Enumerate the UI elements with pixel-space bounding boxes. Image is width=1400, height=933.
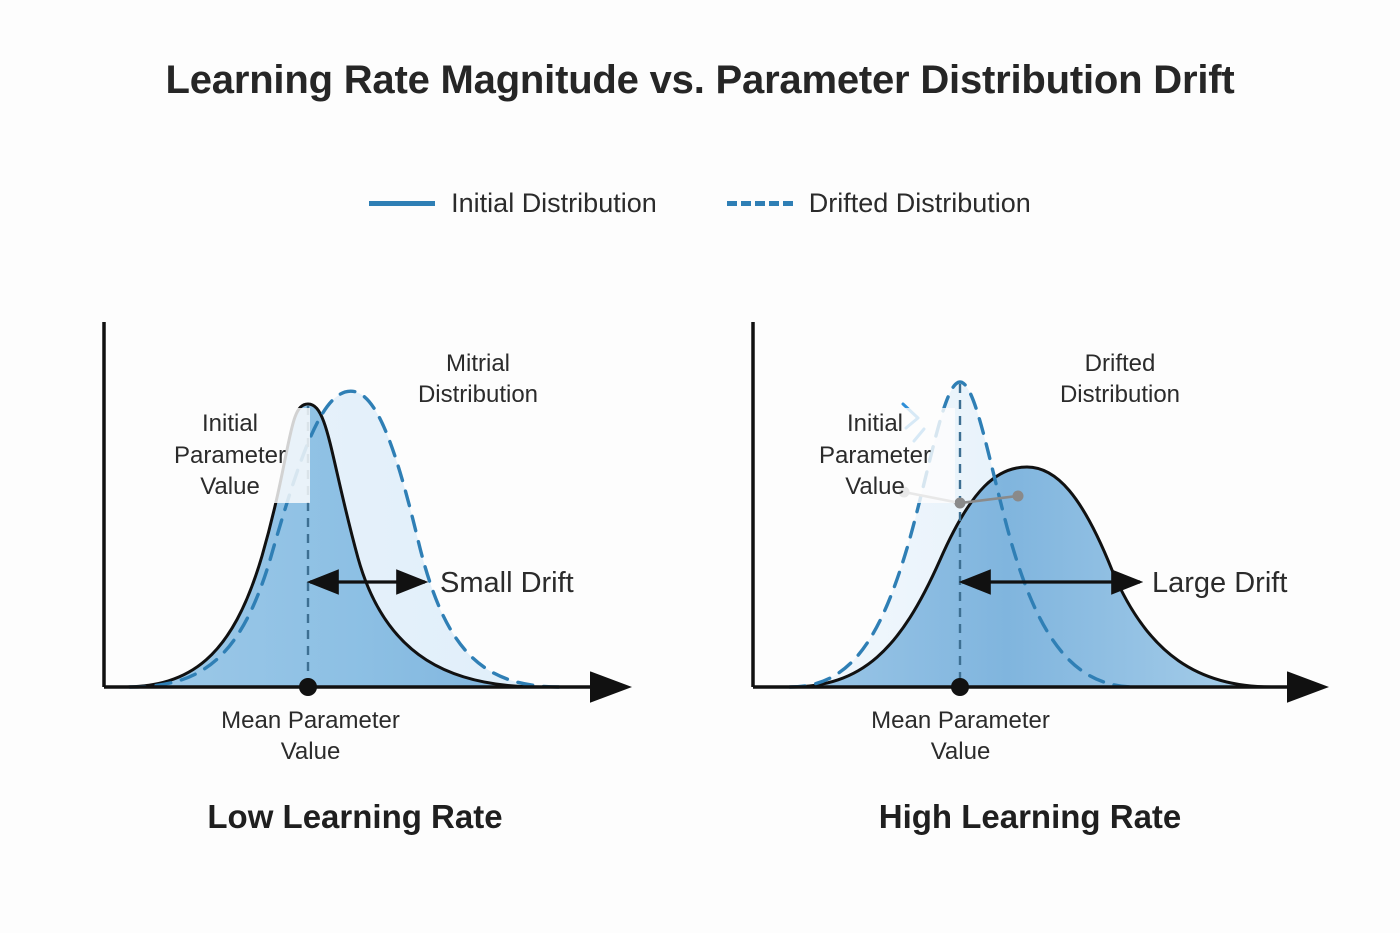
right-connector-dot-2 bbox=[955, 498, 966, 509]
figure-root: Learning Rate Magnitude vs. Parameter Di… bbox=[0, 0, 1400, 933]
caption-high-learning-rate: High Learning Rate bbox=[770, 798, 1290, 836]
left-mean-dot bbox=[299, 678, 317, 696]
right-initial-value-line1: Initial bbox=[795, 408, 955, 440]
left-curve-label-line1: Mitrial bbox=[378, 348, 578, 379]
right-mean-label-line2: Value bbox=[838, 736, 1083, 767]
right-initial-value-line3: Value bbox=[795, 471, 955, 503]
left-curve-label: Mitrial Distribution bbox=[378, 348, 578, 410]
left-initial-value-line2: Parameter bbox=[150, 440, 310, 472]
right-curve-label-line1: Drifted bbox=[1020, 348, 1220, 379]
right-curve-label: Drifted Distribution bbox=[1020, 348, 1220, 410]
right-mean-dot bbox=[951, 678, 969, 696]
left-drift-label: Small Drift bbox=[440, 566, 574, 601]
right-mean-label: Mean Parameter Value bbox=[838, 705, 1083, 767]
right-connector-dot-3 bbox=[1013, 491, 1024, 502]
left-mean-label: Mean Parameter Value bbox=[188, 705, 433, 767]
caption-low-learning-rate: Low Learning Rate bbox=[95, 798, 615, 836]
left-initial-value-line3: Value bbox=[150, 471, 310, 503]
left-mean-label-line2: Value bbox=[188, 736, 433, 767]
right-initial-value-label: Initial Parameter Value bbox=[795, 408, 955, 503]
right-drift-label: Large Drift bbox=[1152, 566, 1287, 601]
left-mean-label-line1: Mean Parameter bbox=[188, 705, 433, 736]
right-curve-label-line2: Distribution bbox=[1020, 379, 1220, 410]
right-initial-value-line2: Parameter bbox=[795, 440, 955, 472]
left-curve-label-line2: Distribution bbox=[378, 379, 578, 410]
right-mean-label-line1: Mean Parameter bbox=[838, 705, 1083, 736]
left-initial-value-line1: Initial bbox=[150, 408, 310, 440]
left-initial-value-label: Initial Parameter Value bbox=[150, 408, 310, 503]
